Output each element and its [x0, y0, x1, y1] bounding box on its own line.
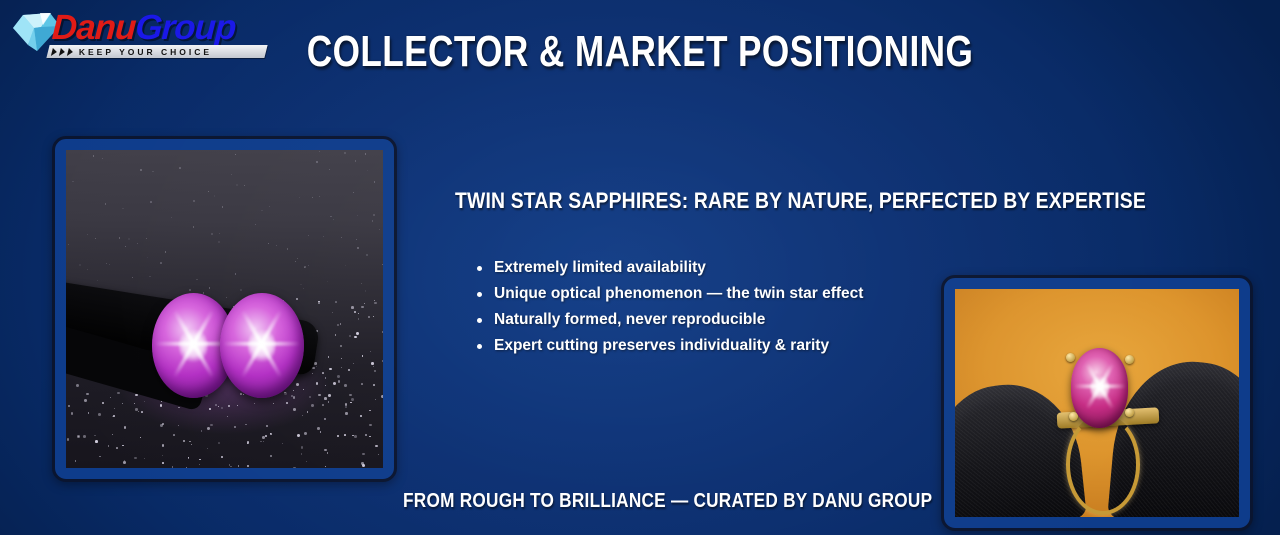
benefits-list: Extremely limited availability Unique op… — [470, 257, 940, 361]
star-center-glow — [248, 328, 276, 364]
list-item: Naturally formed, never reproducible — [470, 309, 940, 331]
prong-icon — [1066, 353, 1075, 362]
slide-canvas: DanuGroup KEEP YOUR CHOICE COLLECTOR & M… — [0, 0, 1280, 535]
logo-word-danu: Danu — [51, 8, 137, 47]
chevron-right-icon — [67, 48, 74, 56]
star-sapphire-ring-photo — [955, 289, 1239, 517]
prong-icon — [1069, 412, 1078, 421]
chevron-right-icon — [51, 48, 58, 56]
chevron-right-icon — [59, 48, 66, 56]
list-item: Expert cutting preserves individuality &… — [470, 335, 940, 357]
slide-title: COLLECTOR & MARKET POSITIONING — [128, 27, 1152, 77]
ring-loop — [1066, 414, 1140, 514]
prong-icon — [1125, 355, 1134, 364]
left-image-frame[interactable] — [52, 136, 397, 482]
twin-star-sapphire-photo — [66, 150, 383, 468]
right-image-frame[interactable] — [941, 275, 1253, 531]
twin-gemstone-pair — [152, 293, 304, 398]
star-center-glow — [179, 328, 207, 364]
list-item: Extremely limited availability — [470, 257, 940, 279]
prong-icon — [1125, 408, 1134, 417]
ring-gemstone — [1071, 348, 1128, 428]
slide-subheading: TWIN STAR SAPPHIRES: RARE BY NATURE, PER… — [455, 188, 1071, 214]
slide-footer-tagline: FROM ROUGH TO BRILLIANCE — CURATED BY DA… — [403, 490, 885, 513]
gemstone-right — [220, 293, 304, 398]
list-item: Unique optical phenomenon — the twin sta… — [470, 283, 940, 305]
